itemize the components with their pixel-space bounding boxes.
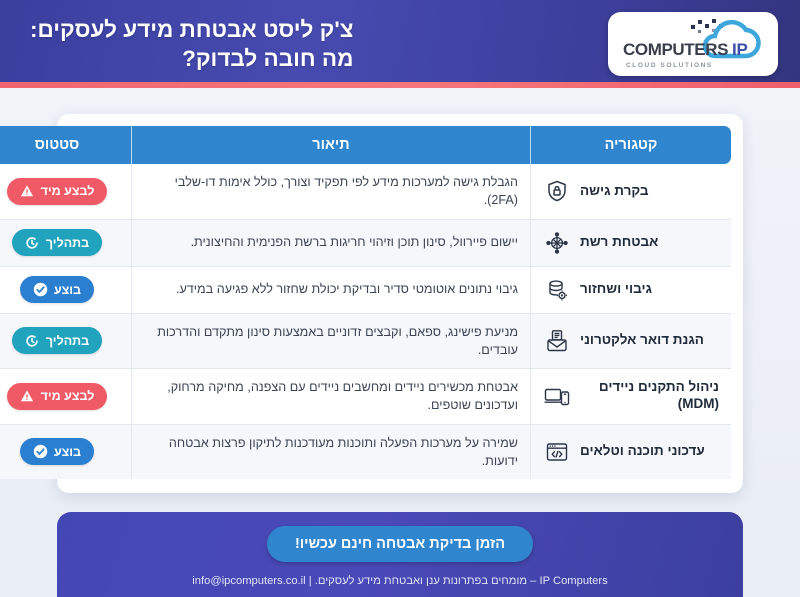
description-text: יישום פיירוול, סינון תוכן וזיהוי חריגות … (144, 233, 518, 251)
column-header-description: תיאור (132, 126, 531, 164)
category-label: גיבוי ושחזור (580, 281, 652, 298)
category-label: בקרת גישה (580, 183, 649, 200)
description-text: מניעת פישינג, ספאם, וקבצים זדוניים באמצע… (144, 323, 518, 360)
header-accent-bar (0, 82, 800, 88)
description-cell: מניעת פישינג, ספאם, וקבצים זדוניים באמצע… (132, 313, 531, 369)
status-cell: בתהליך (0, 313, 132, 369)
description-text: גיבוי נתונים אוטומטי סדיר ובדיקת יכולת ש… (144, 280, 518, 298)
infographic-page: IP COMPUTERS CLOUD SOLUTIONS צ'ק ליסט אב… (0, 0, 800, 597)
description-cell: יישום פיירוול, סינון תוכן וזיהוי חריגות … (132, 219, 531, 266)
network-nodes-icon (543, 229, 571, 257)
status-label: בתהליך (46, 334, 89, 348)
description-text: אבטחת מכשירים ניידים ומחשבים ניידים עם ה… (144, 378, 518, 415)
description-cell: הגבלת גישה למערכות מידע לפי תפקיד וצורך,… (132, 164, 531, 219)
description-text: הגבלת גישה למערכות מידע לפי תפקיד וצורך,… (144, 173, 518, 210)
company-logo: IP COMPUTERS CLOUD SOLUTIONS (608, 12, 778, 76)
status-label: לבצע מיד (41, 389, 95, 403)
column-header-category: קטגוריה (531, 126, 732, 164)
table-row: הגנת דואר אלקטרוני מניעת פישינג, ספאם, ו… (0, 313, 731, 369)
category-cell: גיבוי ושחזור (531, 266, 732, 313)
book-security-check-button[interactable]: הזמן בדיקת אבטחה חינם עכשיו! (267, 526, 533, 562)
page-footer: הזמן בדיקת אבטחה חינם עכשיו! IP Computer… (57, 512, 743, 597)
category-cell: ניהול התקנים ניידים (MDM) (531, 369, 732, 425)
status-cell: בתהליך (0, 219, 132, 266)
shield-lock-icon (543, 177, 571, 205)
table-row: בקרת גישה הגבלת גישה למערכות מידע לפי תפ… (0, 164, 731, 219)
table-row: עדכוני תוכנה וטלאים שמירה על מערכות הפעל… (0, 424, 731, 479)
page-title: צ'ק ליסט אבטחת מידע לעסקים: מה חובה לבדו… (26, 15, 353, 74)
status-label: לבצע מיד (41, 184, 95, 198)
checklist-card: קטגוריה תיאור סטטוס (57, 114, 743, 493)
status-label: בוצע (54, 283, 81, 297)
status-label: בוצע (54, 445, 81, 459)
description-cell: אבטחת מכשירים ניידים ומחשבים ניידים עם ה… (132, 369, 531, 425)
spinner-icon (25, 235, 40, 250)
category-cell: הגנת דואר אלקטרוני (531, 313, 732, 369)
status-badge[interactable]: בוצע (20, 276, 94, 303)
status-cell: לבצע מיד (0, 164, 132, 219)
warning-triangle-icon (20, 389, 35, 404)
table-body: בקרת גישה הגבלת גישה למערכות מידע לפי תפ… (0, 164, 731, 479)
logo-ip-text: IP (732, 40, 747, 60)
status-badge[interactable]: בתהליך (12, 229, 102, 256)
category-cell: עדכוני תוכנה וטלאים (531, 424, 732, 479)
check-circle-icon (33, 282, 48, 297)
table-header: קטגוריה תיאור סטטוס (0, 126, 731, 164)
description-cell: גיבוי נתונים אוטומטי סדיר ובדיקת יכולת ש… (132, 266, 531, 313)
check-circle-icon (33, 444, 48, 459)
status-cell: לבצע מיד (0, 369, 132, 425)
page-title-line2: מה חובה לבדוק? (30, 44, 353, 73)
table-row: ניהול התקנים ניידים (MDM) אבטחת מכשירים … (0, 369, 731, 425)
envelope-document-icon (543, 327, 571, 355)
status-label: בתהליך (46, 236, 89, 250)
category-label: ניהול התקנים ניידים (MDM) (580, 379, 719, 413)
table-header-row: קטגוריה תיאור סטטוס (0, 126, 731, 164)
category-cell: אבטחת רשת (531, 219, 732, 266)
status-cell: בוצע (0, 266, 132, 313)
category-label: הגנת דואר אלקטרוני (580, 332, 704, 349)
category-label: אבטחת רשת (580, 234, 658, 251)
table-row: אבטחת רשת יישום פיירוול, סינון תוכן וזיה… (0, 219, 731, 266)
status-badge[interactable]: לבצע מיד (7, 178, 108, 205)
laptop-phone-icon (543, 382, 571, 410)
table-row: גיבוי ושחזור גיבוי נתונים אוטומטי סדיר ו… (0, 266, 731, 313)
spinner-icon (25, 333, 40, 348)
code-window-icon (543, 438, 571, 466)
logo-tagline: CLOUD SOLUTIONS (626, 62, 713, 69)
status-badge[interactable]: בתהליך (12, 327, 102, 354)
status-badge[interactable]: בוצע (20, 438, 94, 465)
footer-contact-line: IP Computers – מומחים בפתרונות ענן ואבטח… (192, 575, 607, 587)
database-gear-icon (543, 276, 571, 304)
page-header: IP COMPUTERS CLOUD SOLUTIONS צ'ק ליסט אב… (0, 0, 800, 88)
description-text: שמירה על מערכות הפעלה ותוכנות מעודכנות ל… (144, 434, 518, 471)
description-cell: שמירה על מערכות הפעלה ותוכנות מעודכנות ל… (132, 424, 531, 479)
column-header-status: סטטוס (0, 126, 132, 164)
status-badge[interactable]: לבצע מיד (7, 383, 108, 410)
checklist-table: קטגוריה תיאור סטטוס (0, 126, 731, 479)
logo-computers-text: COMPUTERS (623, 40, 728, 60)
category-label: עדכוני תוכנה וטלאים (580, 443, 705, 460)
category-cell: בקרת גישה (531, 164, 732, 219)
page-title-line1: צ'ק ליסט אבטחת מידע לעסקים: (30, 17, 353, 42)
warning-triangle-icon (20, 184, 35, 199)
logo-wordmark: IP COMPUTERS (623, 40, 748, 60)
status-cell: בוצע (0, 424, 132, 479)
